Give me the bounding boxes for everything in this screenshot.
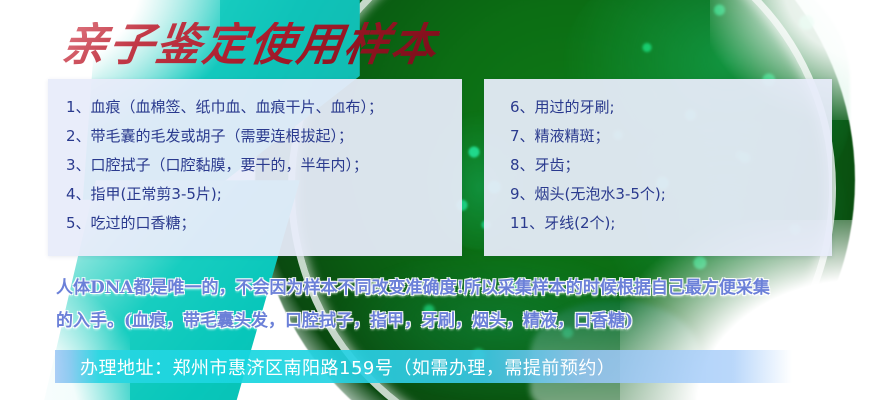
list-item: 1、血痕（血棉签、纸巾血、血痕干片、血布）； <box>66 93 452 122</box>
list-item: 8、牙齿； <box>510 151 822 180</box>
poster-root: 亲子鉴定使用样本 1、血痕（血棉签、纸巾血、血痕干片、血布）； 2、带毛囊的毛发… <box>0 0 880 400</box>
note-paragraph: 人体DNA都是唯一的，不会因为样本不同改变准确度!所以采集样本的时候根据自己最方… <box>56 272 846 338</box>
sample-list-panels: 1、血痕（血棉签、纸巾血、血痕干片、血布）； 2、带毛囊的毛发或胡子（需要连根拔… <box>48 79 832 256</box>
note-line-1: 人体DNA都是唯一的，不会因为样本不同改变准确度!所以采集样本的时候根据自己最方… <box>56 272 846 305</box>
list-item: 7、精液精斑； <box>510 122 822 151</box>
list-item: 4、指甲(正常剪3-5片); <box>66 180 452 209</box>
poster-content: 亲子鉴定使用样本 1、血痕（血棉签、纸巾血、血痕干片、血布）； 2、带毛囊的毛发… <box>0 0 880 400</box>
page-title: 亲子鉴定使用样本 <box>59 22 442 69</box>
sample-list-right: 6、用过的牙刷; 7、精液精斑； 8、牙齿； 9、烟头(无泡水3-5个); 11… <box>510 93 822 238</box>
list-item: 5、吃过的口香糖； <box>66 209 452 238</box>
list-item: 11、牙线(2个); <box>510 209 822 238</box>
address-banner: 办理地址：郑州市惠济区南阳路159号（如需办理，需提前预约） <box>55 350 792 383</box>
list-item: 9、烟头(无泡水3-5个); <box>510 180 822 209</box>
list-item: 2、带毛囊的毛发或胡子（需要连根拔起）； <box>66 122 452 151</box>
list-item: 6、用过的牙刷; <box>510 93 822 122</box>
sample-list-left-panel: 1、血痕（血棉签、纸巾血、血痕干片、血布）； 2、带毛囊的毛发或胡子（需要连根拔… <box>48 79 462 256</box>
sample-list-left: 1、血痕（血棉签、纸巾血、血痕干片、血布）； 2、带毛囊的毛发或胡子（需要连根拔… <box>66 93 452 238</box>
address-text: 办理地址：郑州市惠济区南阳路159号（如需办理，需提前预约） <box>80 354 615 380</box>
list-item: 3、口腔拭子（口腔黏膜，要干的，半年内）； <box>66 151 452 180</box>
note-line-2: 的入手。(血痕，带毛囊头发，口腔拭子，指甲，牙刷，烟头，精液，口香糖) <box>56 305 846 338</box>
sample-list-right-panel: 6、用过的牙刷; 7、精液精斑； 8、牙齿； 9、烟头(无泡水3-5个); 11… <box>484 79 832 256</box>
